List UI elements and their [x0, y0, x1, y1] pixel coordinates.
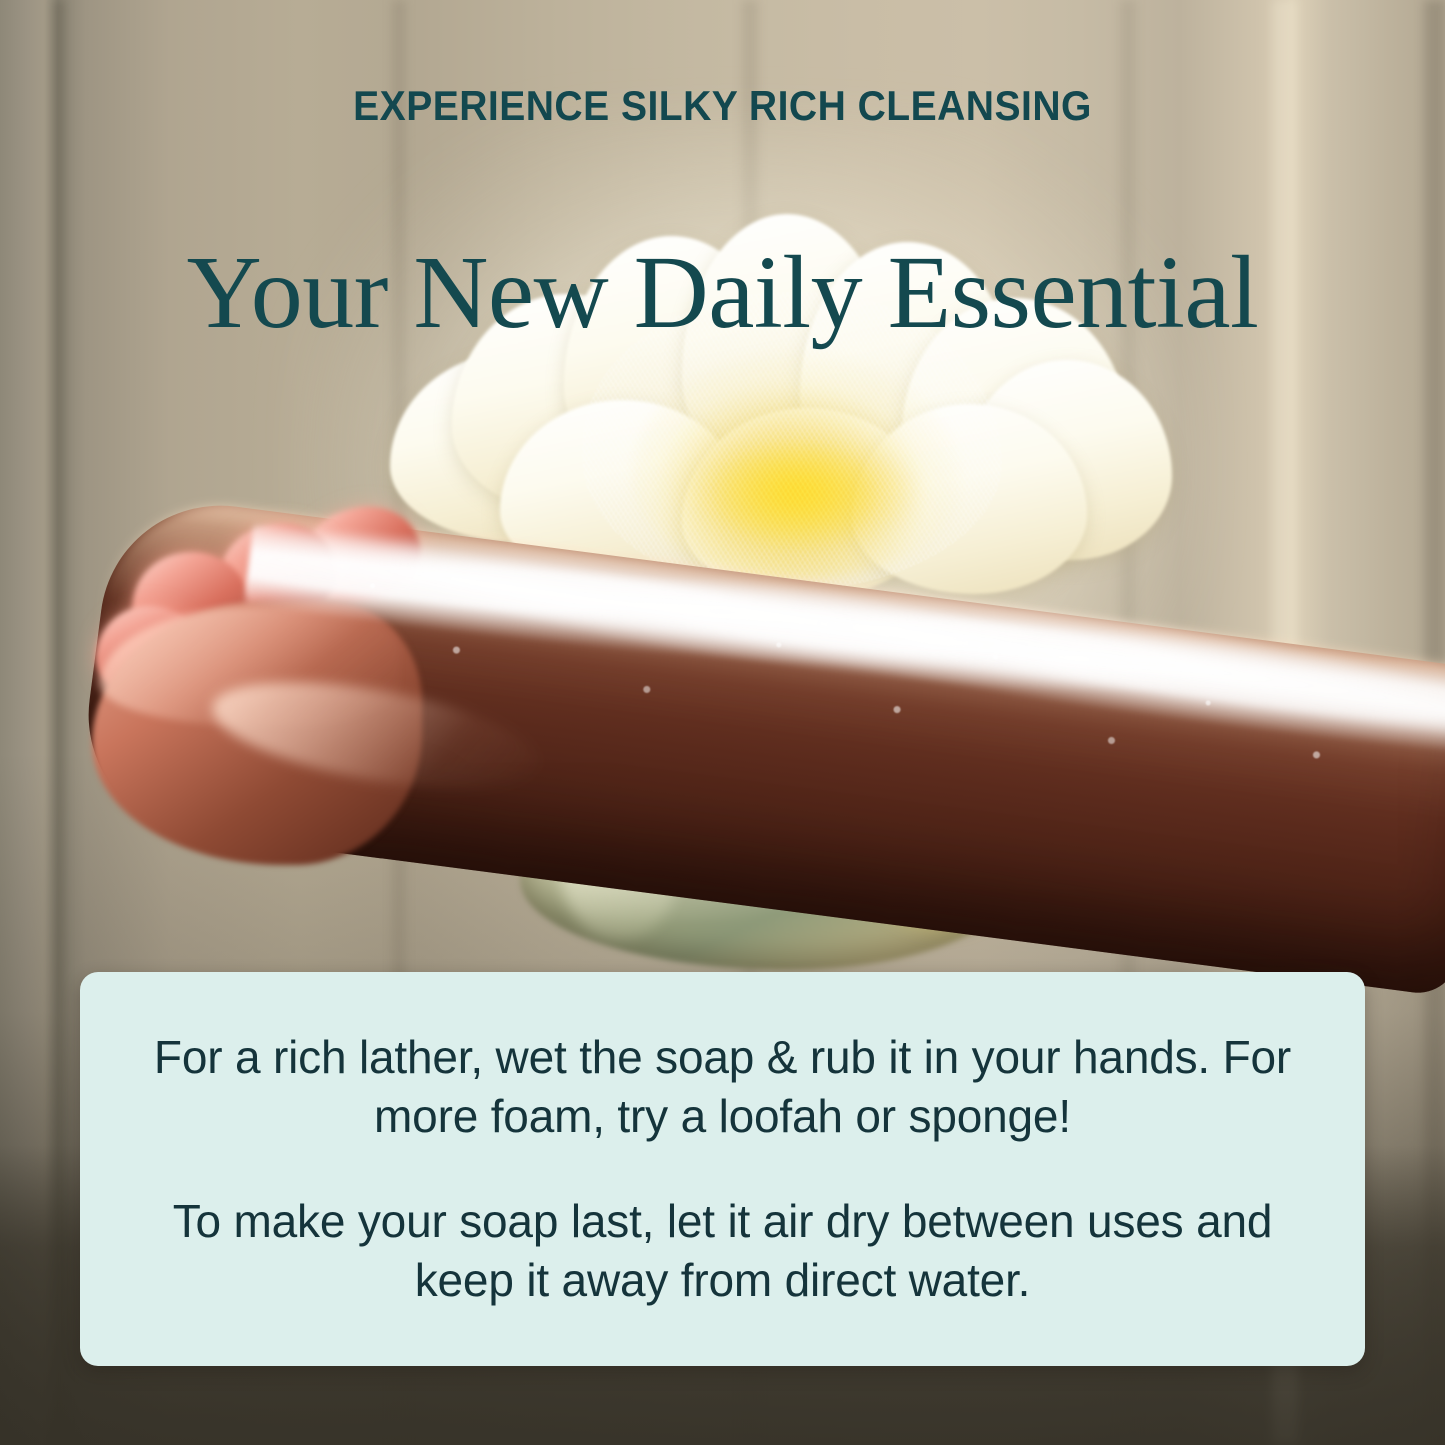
- eyebrow-text: EXPERIENCE SILKY RICH CLEANSING: [51, 85, 1395, 127]
- page-title: Your New Daily Essential: [0, 238, 1445, 347]
- tip-line-lather: For a rich lather, wet the soap & rub it…: [126, 1028, 1319, 1146]
- tip-line-storage: To make your soap last, let it air dry b…: [126, 1192, 1319, 1310]
- usage-tips-card: For a rich lather, wet the soap & rub it…: [80, 972, 1365, 1366]
- product-lifestyle-banner: EXPERIENCE SILKY RICH CLEANSING Your New…: [0, 0, 1445, 1445]
